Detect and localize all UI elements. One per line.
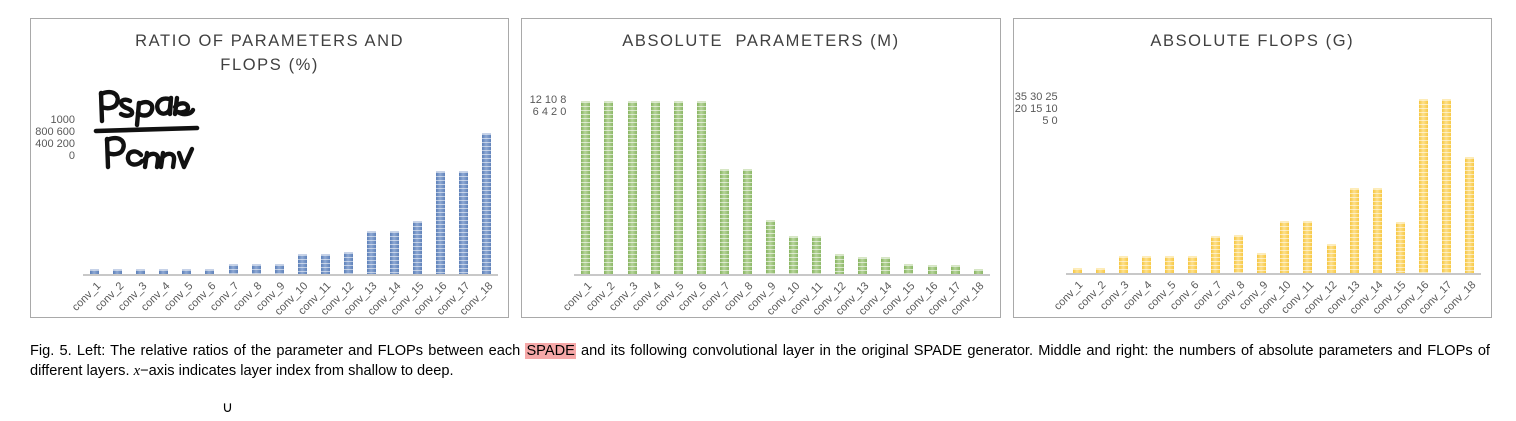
bar-cell (851, 94, 874, 274)
bar-cell (1066, 91, 1089, 273)
y-tick-label: 15 (1030, 103, 1042, 115)
bar-cell (736, 94, 759, 274)
bar-cell (406, 114, 429, 274)
bar-cell (175, 114, 198, 274)
page-bottom-artifact: ∪ (222, 398, 248, 418)
bar-cell (1250, 91, 1273, 273)
y-tick-label: 2 (551, 106, 557, 118)
bar (298, 254, 307, 274)
bar-cell (667, 94, 690, 274)
bar-cell (1204, 91, 1227, 273)
bar (252, 264, 261, 274)
x-axis-ratio: conv_1conv_2conv_3conv_4conv_5conv_6conv… (83, 278, 498, 338)
bar (321, 254, 330, 274)
bar-cell (106, 114, 129, 274)
bar (581, 101, 590, 275)
bar-cell (828, 94, 851, 274)
y-tick-label: 4 (542, 106, 548, 118)
bar-cell (268, 114, 291, 274)
x-tick-cell: conv_18 (1458, 277, 1481, 337)
bar-cell (1112, 91, 1135, 273)
y-tick-label: 10 (545, 94, 557, 106)
bar (1234, 235, 1243, 273)
bar-cell (1412, 91, 1435, 273)
x-axis-line (1066, 273, 1481, 275)
bar (651, 101, 660, 275)
bar (1327, 244, 1336, 273)
y-tick-label: 6 (533, 106, 539, 118)
bar-cell (221, 114, 244, 274)
bar-cell (1343, 91, 1366, 273)
bar (881, 257, 890, 274)
bar (1419, 99, 1428, 273)
y-tick-label: 0 (560, 106, 566, 118)
bar-cell (337, 114, 360, 274)
bar (229, 264, 238, 274)
bar (928, 265, 937, 274)
bar-cell (1458, 91, 1481, 273)
y-tick-label: 200 (57, 138, 75, 150)
caption-text-part1: Left: The relative ratios of the paramet… (72, 343, 526, 359)
plot-area-ratio: 1000 800 600 400 200 0 conv_1conv_2conv_… (83, 114, 498, 274)
bar (904, 264, 913, 274)
bar (1396, 222, 1405, 273)
bar (628, 101, 637, 275)
chart-title-parameters: ABSOLUTE PARAMETERS (M) (522, 29, 999, 53)
bar (1188, 256, 1197, 273)
bar-cell (1227, 91, 1250, 273)
bar (697, 101, 706, 275)
caption-figure-number: Fig. 5. (30, 343, 72, 359)
bar-cell (1089, 91, 1112, 273)
bar-series-flops (1066, 91, 1481, 273)
bar (344, 252, 353, 274)
y-axis-flops: 35 30 25 20 15 10 5 0 (1014, 91, 1058, 273)
bar-cell (620, 94, 643, 274)
bar-cell (198, 114, 221, 274)
bar (1303, 221, 1312, 273)
bar (1211, 236, 1220, 273)
x-axis-line (83, 274, 498, 276)
caption-highlight-spade: SPADE (525, 343, 575, 359)
y-tick-label: 20 (1015, 103, 1027, 115)
y-axis-parameters: 12 10 8 6 4 2 0 (522, 94, 566, 274)
bar-cell (597, 94, 620, 274)
bar (367, 231, 376, 274)
bar-cell (967, 94, 990, 274)
bar-cell (152, 114, 175, 274)
bar (459, 171, 468, 274)
y-tick-label: 30 (1030, 91, 1042, 103)
bar (436, 171, 445, 274)
y-tick-label: 1000 (51, 114, 75, 126)
bar (1142, 256, 1151, 273)
bar-cell (291, 114, 314, 274)
bar (275, 264, 284, 274)
y-tick-label: 5 (1042, 115, 1048, 127)
x-axis-parameters: conv_1conv_2conv_3conv_4conv_5conv_6conv… (574, 278, 989, 338)
bar-series-parameters (574, 94, 989, 274)
bar (390, 231, 399, 274)
bar-cell (944, 94, 967, 274)
bar (1165, 256, 1174, 273)
chart-panel-flops: ABSOLUTE FLOPS (G) 35 30 25 20 15 10 5 0… (1013, 18, 1492, 318)
chart-title-ratio: RATIO OF PARAMETERS AND FLOPS (%) (31, 29, 508, 77)
bar (674, 101, 683, 275)
bar-cell (921, 94, 944, 274)
bar (1373, 188, 1382, 273)
bar-cell (245, 114, 268, 274)
bar (482, 133, 491, 274)
bar (858, 257, 867, 274)
bar-cell (690, 94, 713, 274)
y-tick-label: 8 (560, 94, 566, 106)
y-tick-label: 600 (57, 126, 75, 138)
chart-panel-parameters: ABSOLUTE PARAMETERS (M) 12 10 8 6 4 2 0 … (521, 18, 1000, 318)
bar-cell (644, 94, 667, 274)
bar-cell (1135, 91, 1158, 273)
y-tick-label: 0 (1052, 115, 1058, 127)
bar (413, 221, 422, 274)
bar-cell (897, 94, 920, 274)
bar-cell (574, 94, 597, 274)
bar-cell (805, 94, 828, 274)
bar-cell (129, 114, 152, 274)
y-tick-label: 400 (35, 138, 53, 150)
bar (1257, 253, 1266, 273)
x-tick-cell: conv_18 (967, 278, 990, 338)
bar (1442, 99, 1451, 273)
bar-cell (1435, 91, 1458, 273)
bar-series-ratio (83, 114, 498, 274)
bar-cell (1181, 91, 1204, 273)
y-tick-label: 0 (69, 150, 75, 162)
bar (951, 265, 960, 274)
bar-cell (1389, 91, 1412, 273)
figure-caption: Fig. 5. Left: The relative ratios of the… (30, 341, 1490, 381)
caption-text-part3: −axis indicates layer index from shallow… (140, 363, 454, 379)
bar-cell (360, 114, 383, 274)
x-axis-flops: conv_1conv_2conv_3conv_4conv_5conv_6conv… (1066, 277, 1481, 337)
bar (743, 169, 752, 274)
bar (1119, 256, 1128, 273)
x-tick-cell: conv_18 (475, 278, 498, 338)
bar-cell (83, 114, 106, 274)
figure-panels: RATIO OF PARAMETERS AND FLOPS (%) (0, 0, 1516, 330)
bar-cell (1366, 91, 1389, 273)
y-tick-label: 10 (1045, 103, 1057, 115)
bar-cell (314, 114, 337, 274)
plot-area-flops: 35 30 25 20 15 10 5 0 conv_1conv_2conv_3… (1066, 91, 1481, 273)
bar-cell (1273, 91, 1296, 273)
bar-cell (383, 114, 406, 274)
chart-panel-ratio: RATIO OF PARAMETERS AND FLOPS (%) (30, 18, 509, 318)
bar (720, 169, 729, 274)
bar (1280, 221, 1289, 273)
x-axis-line (574, 274, 989, 276)
bar (835, 254, 844, 275)
bar-cell (1296, 91, 1319, 273)
bar (789, 236, 798, 274)
bar-cell (475, 114, 498, 274)
y-tick-label: 800 (35, 126, 53, 138)
bar (1465, 157, 1474, 273)
plot-area-parameters: 12 10 8 6 4 2 0 conv_1conv_2conv_3conv_4… (574, 94, 989, 274)
bar-cell (759, 94, 782, 274)
bar-cell (429, 114, 452, 274)
y-tick-label: 35 (1015, 91, 1027, 103)
bar-cell (1320, 91, 1343, 273)
bar (1350, 188, 1359, 273)
bar (766, 220, 775, 274)
bar-cell (874, 94, 897, 274)
bar (812, 236, 821, 274)
y-tick-label: 12 (530, 94, 542, 106)
y-tick-label: 25 (1045, 91, 1057, 103)
bar (604, 101, 613, 275)
y-axis-ratio: 1000 800 600 400 200 0 (31, 114, 75, 274)
bar-cell (782, 94, 805, 274)
chart-title-flops: ABSOLUTE FLOPS (G) (1014, 29, 1491, 53)
bar-cell (452, 114, 475, 274)
bar-cell (713, 94, 736, 274)
bar-cell (1158, 91, 1181, 273)
